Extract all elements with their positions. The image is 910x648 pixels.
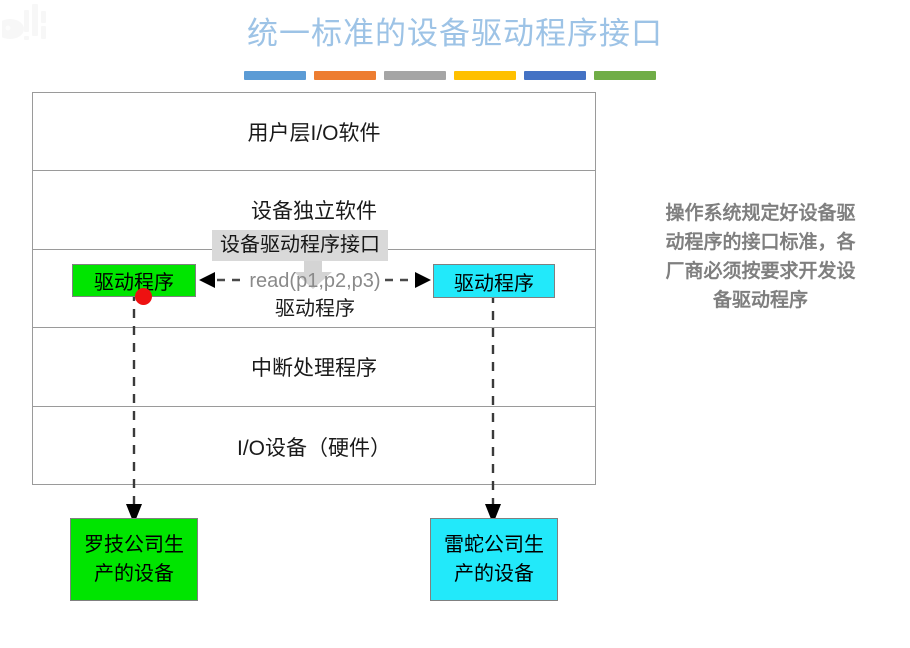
side-note-line-1: 操作系统规定好设备驱 bbox=[637, 199, 884, 228]
side-note-line-4: 备驱动程序 bbox=[637, 286, 884, 315]
read-call-label: read(p1,p2,p3) bbox=[199, 268, 431, 294]
device-box-razer[interactable]: 雷蛇公司生 产的设备 bbox=[430, 518, 558, 601]
accent-bar-gray bbox=[384, 71, 446, 80]
device-box-line1: 雷蛇公司生 bbox=[444, 531, 544, 560]
accent-bar-yellow bbox=[454, 71, 516, 80]
accent-bar-navy bbox=[524, 71, 586, 80]
driver-box-logitech[interactable]: 驱动程序 bbox=[72, 264, 196, 297]
driver-box-label: 驱动程序 bbox=[94, 266, 174, 295]
connector-left-driver-to-device bbox=[112, 292, 156, 524]
device-box-line2: 产的设备 bbox=[94, 560, 174, 589]
accent-bar-blue bbox=[244, 71, 306, 80]
side-note-line-3: 厂商必须按要求开发设 bbox=[637, 257, 884, 286]
driver-box-label: 驱动程序 bbox=[454, 267, 534, 296]
stack-row-label: 中断处理程序 bbox=[251, 352, 377, 382]
stack-row-label: I/O设备（硬件） bbox=[237, 432, 391, 462]
accent-bar-orange bbox=[314, 71, 376, 80]
connector-right-driver-to-device bbox=[471, 294, 515, 524]
device-box-logitech[interactable]: 罗技公司生 产的设备 bbox=[70, 518, 198, 601]
device-box-line1: 罗技公司生 bbox=[84, 531, 184, 560]
red-marker-dot bbox=[135, 288, 152, 305]
side-note: 操作系统规定好设备驱 动程序的接口标准，各 厂商必须按要求开发设 备驱动程序 bbox=[637, 199, 884, 315]
page-title: 统一标准的设备驱动程序接口 bbox=[0, 12, 910, 56]
device-box-line2: 产的设备 bbox=[454, 560, 534, 589]
device-driver-interface-label: 设备驱动程序接口 bbox=[212, 230, 388, 261]
driver-box-razer[interactable]: 驱动程序 bbox=[433, 264, 555, 298]
stack-row-user-io-software: 用户层I/O软件 bbox=[33, 93, 595, 171]
accent-bar-group bbox=[244, 71, 656, 80]
side-note-line-2: 动程序的接口标准，各 bbox=[637, 228, 884, 257]
stack-row-label: 设备独立软件 bbox=[251, 195, 377, 225]
accent-bar-green bbox=[594, 71, 656, 80]
stack-row-label: 用户层I/O软件 bbox=[247, 117, 380, 147]
driver-layer-label: 驱动程序 bbox=[199, 296, 431, 322]
